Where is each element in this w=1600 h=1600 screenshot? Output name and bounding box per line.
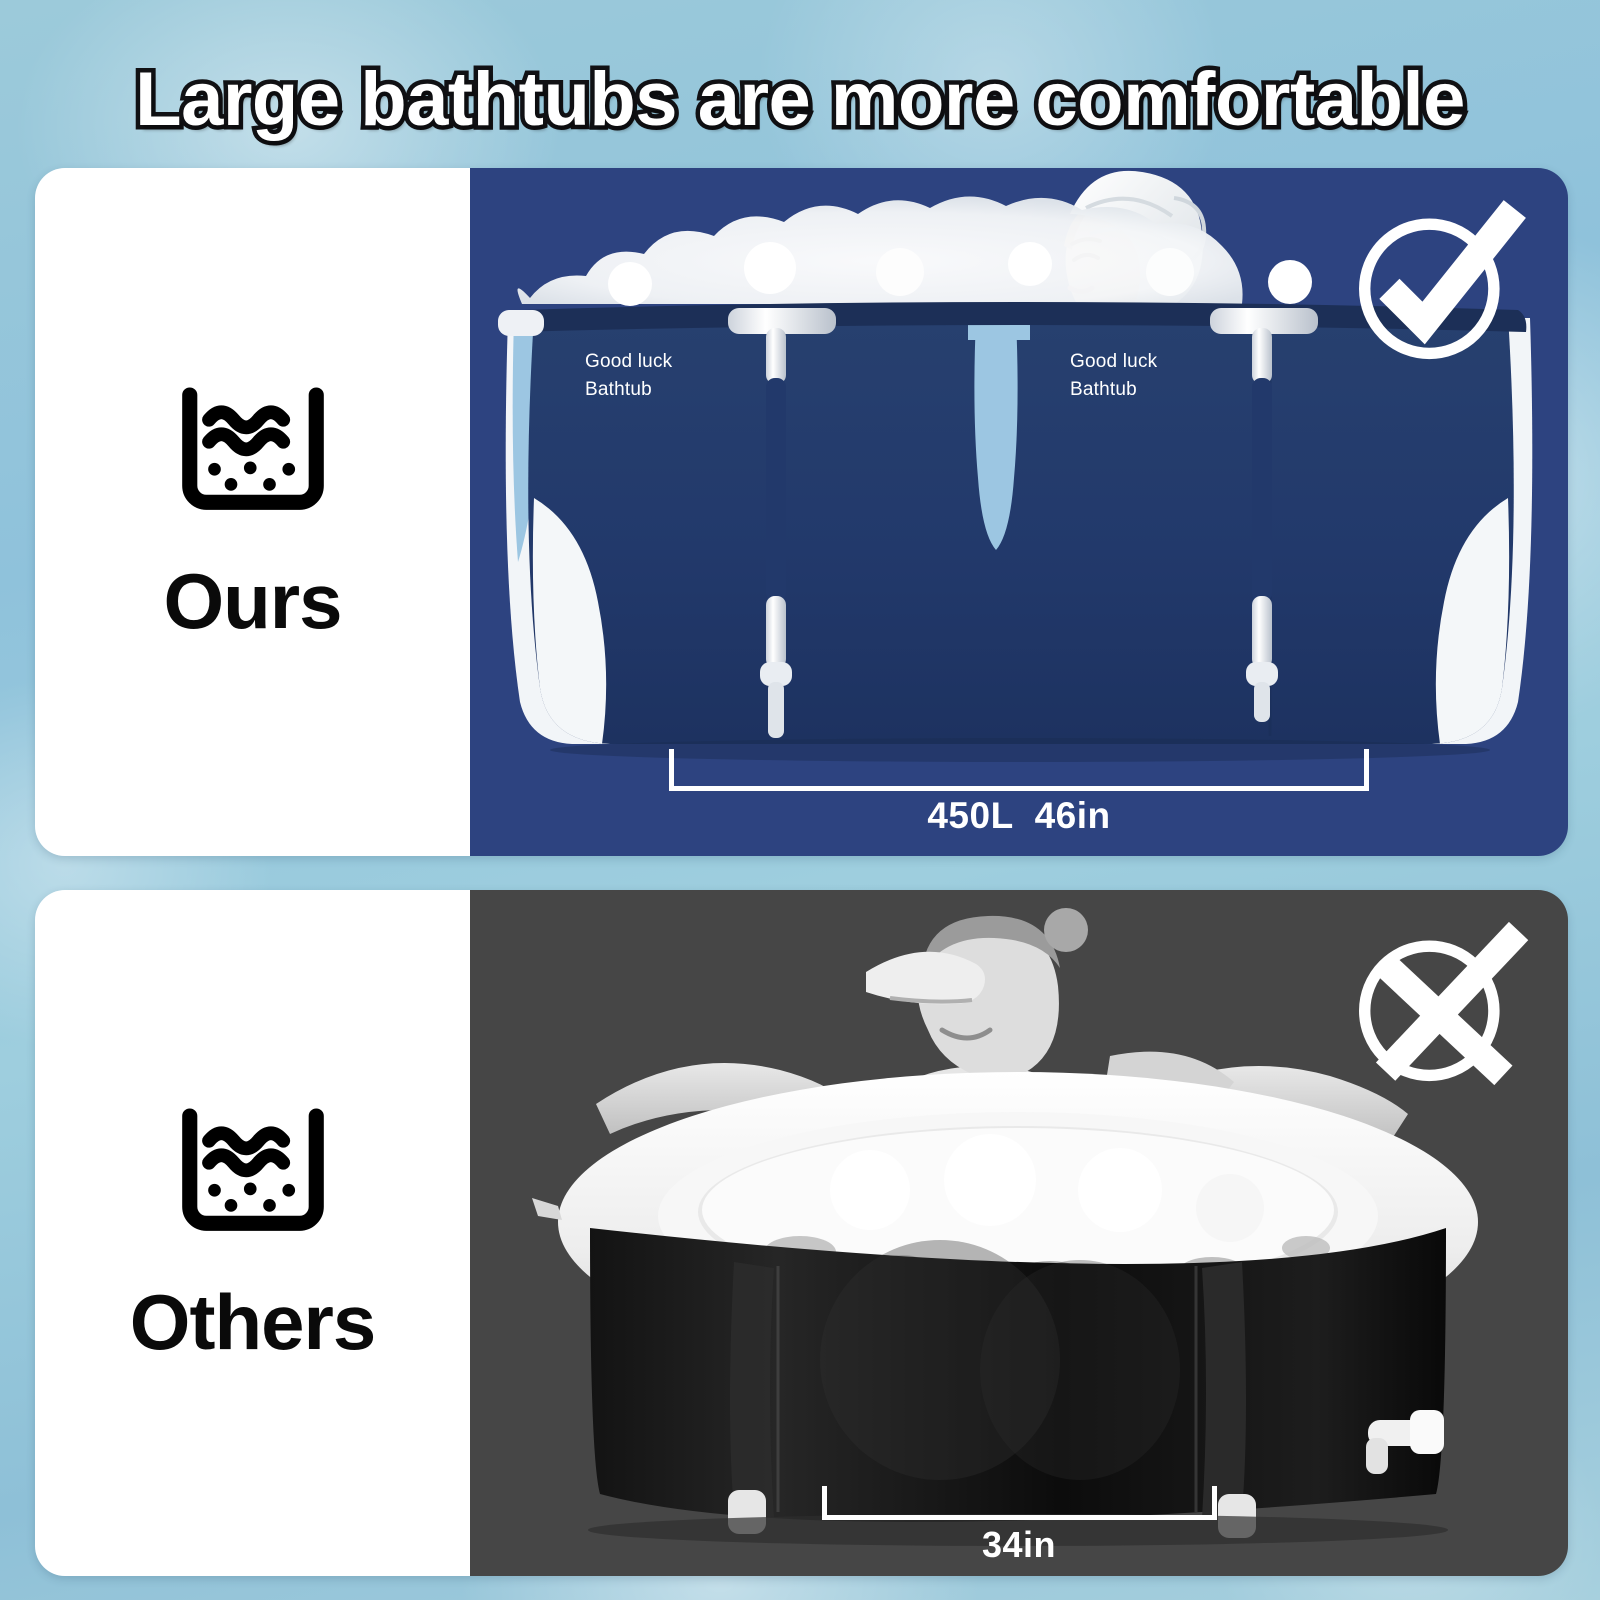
- others-dimension-bracket: [822, 1486, 1217, 1520]
- bathtub-water-icon: [169, 1105, 337, 1237]
- others-label-text: Others: [130, 1283, 375, 1361]
- ours-dimension-group: 450L 46in: [470, 749, 1568, 836]
- infographic-root: Large bathtubs are more comfortable Ours: [0, 0, 1600, 1600]
- tub-brand-text-right: Good luck Bathtub: [1070, 348, 1157, 403]
- others-dimension-group: 34in: [470, 1486, 1568, 1564]
- others-product-image: 34in: [470, 890, 1568, 1576]
- ours-dimension-text: 450L 46in: [470, 797, 1568, 836]
- tub-brand-text-left: Good luck Bathtub: [585, 348, 672, 403]
- others-dimension-text: 34in: [470, 1526, 1568, 1564]
- ours-product-image: Good luck Bathtub Good luck Bathtub 450L…: [470, 168, 1568, 856]
- page-title: Large bathtubs are more comfortable: [0, 62, 1600, 138]
- ours-dimension-bracket: [669, 749, 1369, 791]
- comparison-row-others: Others: [35, 890, 1568, 1576]
- ours-label-pane: Ours: [35, 168, 470, 856]
- check-badge-icon: [1340, 190, 1530, 380]
- others-label-pane: Others: [35, 890, 470, 1576]
- comparison-row-ours: Ours: [35, 168, 1568, 856]
- ours-label-text: Ours: [163, 562, 341, 640]
- bathtub-water-icon: [169, 384, 337, 516]
- cross-badge-icon: [1340, 912, 1530, 1102]
